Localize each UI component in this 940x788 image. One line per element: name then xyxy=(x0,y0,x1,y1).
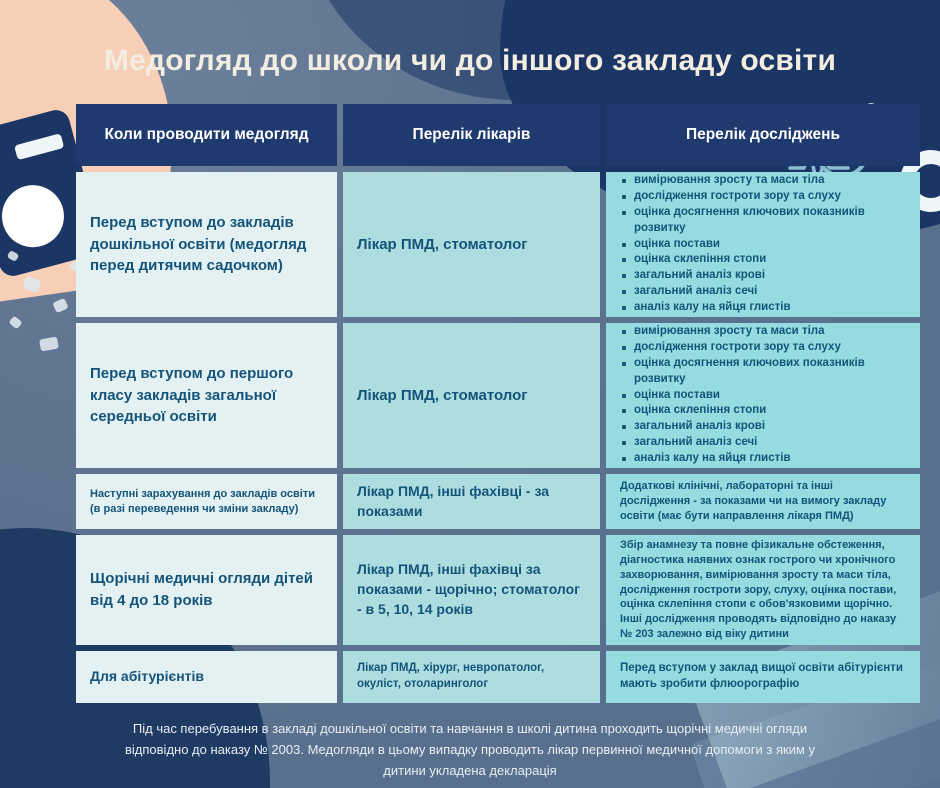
table-row: Щорічні медичні огляди дітей від 4 до 18… xyxy=(76,535,920,645)
table-header-row: Коли проводити медогляд Перелік лікарів … xyxy=(76,104,920,166)
cell-when: Наступні зарахування до закладів освіти … xyxy=(76,474,337,529)
list-item: загальний аналіз сечі xyxy=(620,435,906,451)
cell-exams: вимірювання зросту та маси тіла дослідже… xyxy=(606,323,920,468)
list-item: оцінка склепіння стопи xyxy=(620,403,906,419)
cell-exams: Додаткові клінічні, лабораторні та інші … xyxy=(606,474,920,529)
cell-doctors: Лікар ПМД, інші фахівці за показами - що… xyxy=(343,535,600,645)
list-item: дослідження гостроти зору та слуху xyxy=(620,340,906,356)
page-title: Медогляд до школи чи до іншого закладу о… xyxy=(0,44,940,78)
list-item: вимірювання зросту та маси тіла xyxy=(620,173,906,189)
cell-doctors: Лікар ПМД, стоматолог xyxy=(343,323,600,468)
list-item: оцінка постави xyxy=(620,388,906,404)
cell-when: Перед вступом до закладів дошкільної осв… xyxy=(76,172,337,317)
cell-when: Щорічні медичні огляди дітей від 4 до 18… xyxy=(76,535,337,645)
list-item: оцінка досягнення ключових показників ро… xyxy=(620,205,906,237)
column-header-exams: Перелік досліджень xyxy=(606,104,920,166)
list-item: оцінка склепіння стопи xyxy=(620,252,906,268)
infographic-page: Медогляд до школи чи до іншого закладу о… xyxy=(0,0,940,788)
medical-exam-table: Коли проводити медогляд Перелік лікарів … xyxy=(76,104,920,709)
cell-when: Для абітурієнтів xyxy=(76,651,337,703)
footer-note: Під час перебування в закладі дошкільної… xyxy=(110,718,830,781)
list-item: оцінка досягнення ключових показників ро… xyxy=(620,356,906,388)
list-item: загальний аналіз сечі xyxy=(620,284,906,300)
list-item: аналіз калу на яйця глистів xyxy=(620,451,906,467)
cell-exams: Перед вступом у заклад вищої освіти абіт… xyxy=(606,651,920,703)
exam-list: вимірювання зросту та маси тіла дослідже… xyxy=(620,324,906,467)
table-row: Наступні зарахування до закладів освіти … xyxy=(76,474,920,529)
cell-when: Перед вступом до першого класу закладів … xyxy=(76,323,337,468)
exam-list: вимірювання зросту та маси тіла дослідже… xyxy=(620,173,906,316)
list-item: загальний аналіз крові xyxy=(620,419,906,435)
list-item: вимірювання зросту та маси тіла xyxy=(620,324,906,340)
list-item: аналіз калу на яйця глистів xyxy=(620,300,906,316)
column-header-doctors: Перелік лікарів xyxy=(343,104,600,166)
column-header-when: Коли проводити медогляд xyxy=(76,104,337,166)
table-row: Перед вступом до першого класу закладів … xyxy=(76,323,920,468)
cell-doctors: Лікар ПМД, стоматолог xyxy=(343,172,600,317)
list-item: загальний аналіз крові xyxy=(620,268,906,284)
cell-doctors: Лікар ПМД, хірург, невропатолог, окуліст… xyxy=(343,651,600,703)
list-item: дослідження гостроти зору та слуху xyxy=(620,189,906,205)
cell-exams: Збір анамнезу та повне фізикальне обстеж… xyxy=(606,535,920,645)
cell-doctors: Лікар ПМД, інші фахівці - за показами xyxy=(343,474,600,529)
table-row: Перед вступом до закладів дошкільної осв… xyxy=(76,172,920,317)
table-row: Для абітурієнтів Лікар ПМД, хірург, невр… xyxy=(76,651,920,703)
list-item: оцінка постави xyxy=(620,237,906,253)
cell-exams: вимірювання зросту та маси тіла дослідже… xyxy=(606,172,920,317)
